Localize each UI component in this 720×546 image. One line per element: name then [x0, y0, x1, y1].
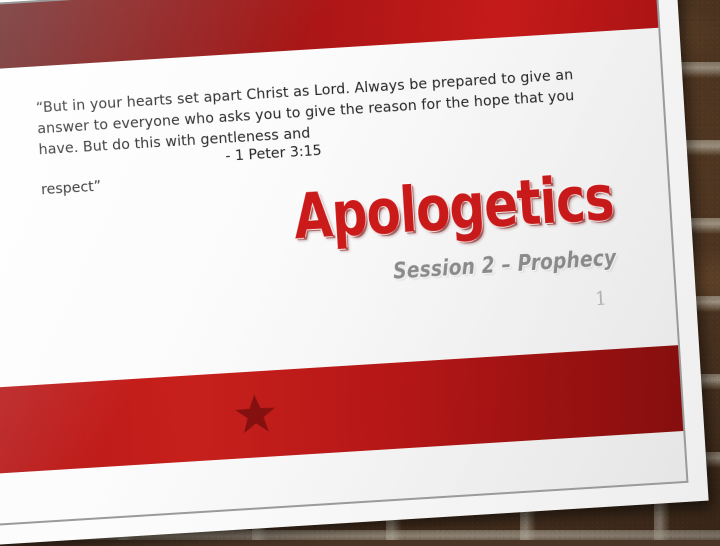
scripture-quote: “But in your hearts set apart Christ as …	[35, 63, 608, 161]
bottom-red-band	[0, 345, 683, 474]
slide-content-area: “But in your hearts set apart Christ as …	[0, 0, 686, 524]
scripture-quote-tail: respect”	[41, 179, 102, 199]
slide-title: Apologetics	[291, 167, 614, 249]
slide-page-number: 1	[594, 287, 607, 310]
top-red-band	[0, 0, 658, 71]
presentation-slide: “But in your hearts set apart Christ as …	[0, 0, 709, 546]
slide-subtitle: Session 2 – Prophecy	[393, 245, 618, 285]
